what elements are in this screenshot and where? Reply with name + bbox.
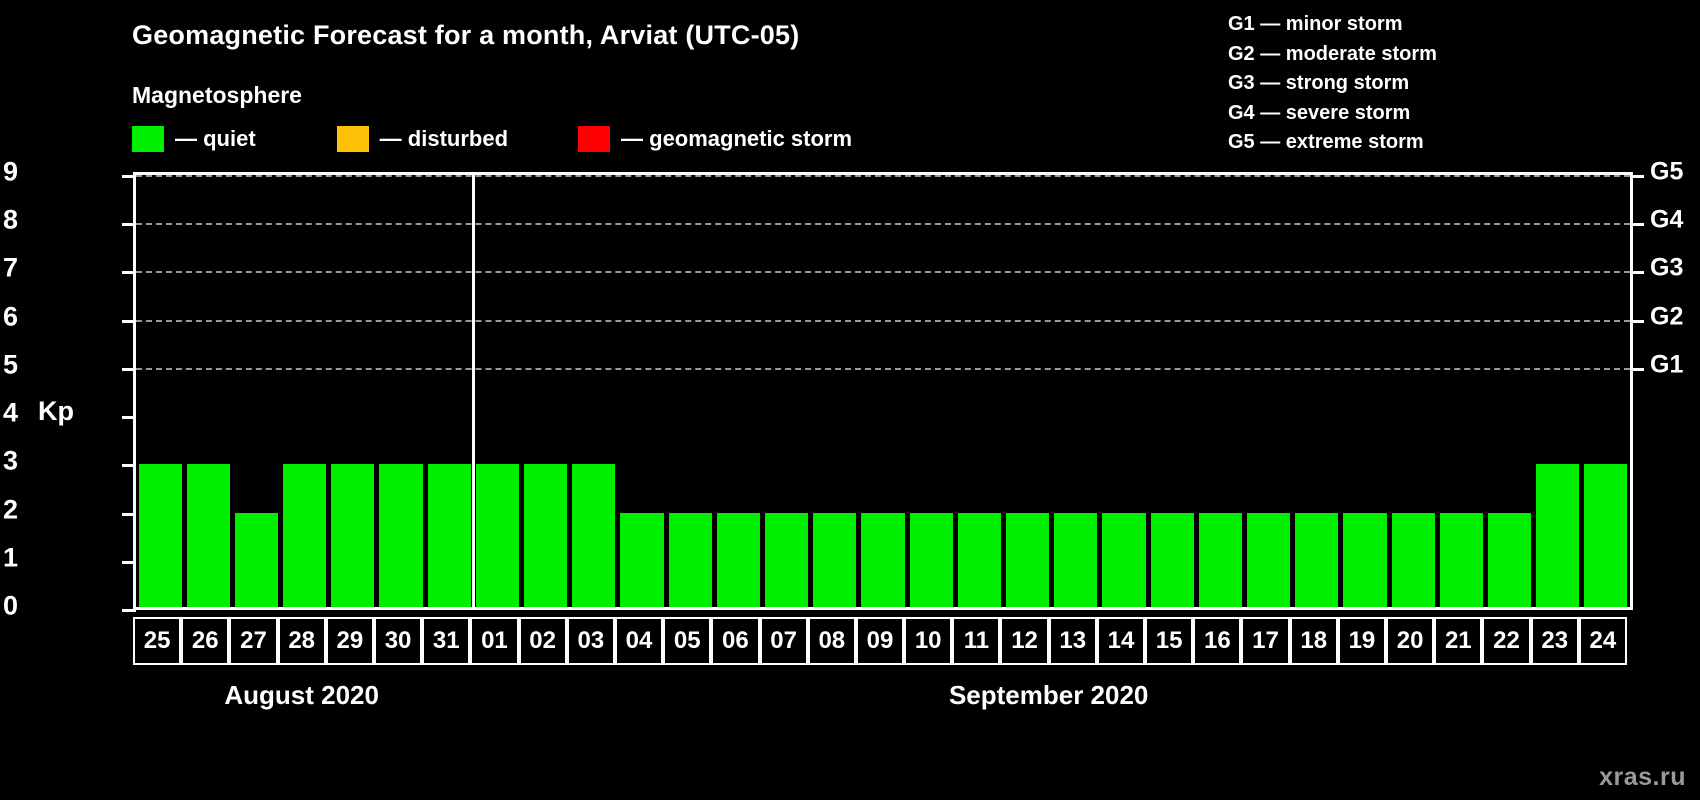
y-tick-label-7: 7	[0, 253, 18, 284]
date-label[interactable]: 08	[808, 617, 856, 665]
legend-label-storm: — geomagnetic storm	[621, 126, 852, 152]
g-axis-label-g4: G4	[1650, 206, 1683, 235]
date-label[interactable]: 13	[1049, 617, 1097, 665]
date-label[interactable]: 17	[1241, 617, 1289, 665]
date-label[interactable]: 29	[326, 617, 374, 665]
y-tick-label-1: 1	[0, 542, 18, 573]
date-label[interactable]: 10	[904, 617, 952, 665]
bar[interactable]	[572, 464, 615, 609]
date-axis: 2526272829303101020304050607080910111213…	[133, 617, 1633, 665]
bar[interactable]	[331, 464, 374, 609]
y-tick-1	[122, 561, 136, 564]
month-caption: September 2020	[949, 680, 1148, 711]
g-axis-label-g5: G5	[1650, 158, 1683, 187]
legend-swatch-storm	[578, 126, 610, 152]
month-caption: August 2020	[224, 680, 379, 711]
bar[interactable]	[524, 464, 567, 609]
date-label[interactable]: 02	[519, 617, 567, 665]
legend-item-quiet: — quiet	[132, 126, 256, 152]
y-tick-7	[122, 271, 136, 274]
watermark: xras.ru	[1599, 763, 1686, 792]
bar[interactable]	[379, 464, 422, 609]
bar[interactable]	[139, 464, 182, 609]
gridline-kp-9	[136, 175, 1630, 177]
g-axis-label-g2: G2	[1650, 302, 1683, 331]
date-label[interactable]: 23	[1531, 617, 1579, 665]
gridline-kp-7	[136, 271, 1630, 273]
bar[interactable]	[717, 513, 760, 609]
bar[interactable]	[1343, 513, 1386, 609]
plot-area	[133, 172, 1633, 609]
bar[interactable]	[669, 513, 712, 609]
date-label[interactable]: 11	[952, 617, 1000, 665]
y-tick-8	[122, 223, 136, 226]
y-tick-2	[122, 513, 136, 516]
date-label[interactable]: 27	[229, 617, 277, 665]
g-tick-g5	[1630, 175, 1644, 178]
bar[interactable]	[620, 513, 663, 609]
g-tick-g1	[1630, 368, 1644, 371]
y-tick-label-9: 9	[0, 157, 18, 188]
date-label[interactable]: 31	[422, 617, 470, 665]
bar[interactable]	[910, 513, 953, 609]
date-label[interactable]: 22	[1482, 617, 1530, 665]
bar[interactable]	[428, 464, 471, 609]
gridline-kp-6	[136, 320, 1630, 322]
storm-scale-row-g3: G3 — strong storm	[1228, 69, 1437, 99]
g-tick-g4	[1630, 223, 1644, 226]
date-label[interactable]: 04	[615, 617, 663, 665]
bar[interactable]	[1199, 513, 1242, 609]
date-label[interactable]: 30	[374, 617, 422, 665]
bar[interactable]	[861, 513, 904, 609]
date-label[interactable]: 20	[1386, 617, 1434, 665]
y-tick-label-2: 2	[0, 494, 18, 525]
gridline-kp-5	[136, 368, 1630, 370]
date-label[interactable]: 06	[711, 617, 759, 665]
bar[interactable]	[187, 464, 230, 609]
legend-item-storm: — geomagnetic storm	[578, 126, 852, 152]
date-label[interactable]: 25	[133, 617, 181, 665]
bar[interactable]	[1151, 513, 1194, 609]
legend-label-disturbed: — disturbed	[380, 126, 508, 152]
y-tick-6	[122, 320, 136, 323]
bar[interactable]	[1584, 464, 1627, 609]
y-tick-5	[122, 368, 136, 371]
y-tick-label-0: 0	[0, 591, 18, 622]
date-label[interactable]: 03	[567, 617, 615, 665]
bar[interactable]	[958, 513, 1001, 609]
bar[interactable]	[1392, 513, 1435, 609]
y-tick-label-5: 5	[0, 349, 18, 380]
plot-inner	[136, 175, 1630, 609]
bar[interactable]	[1006, 513, 1049, 609]
bar[interactable]	[1102, 513, 1145, 609]
date-label[interactable]: 15	[1145, 617, 1193, 665]
storm-scale-row-g2: G2 — moderate storm	[1228, 40, 1437, 70]
y-tick-label-8: 8	[0, 205, 18, 236]
legend-label-quiet: — quiet	[175, 126, 256, 152]
y-tick-label-6: 6	[0, 301, 18, 332]
bar[interactable]	[765, 513, 808, 609]
g-axis-label-g1: G1	[1650, 350, 1683, 379]
legend-swatch-disturbed	[337, 126, 369, 152]
date-label[interactable]: 18	[1290, 617, 1338, 665]
date-label[interactable]: 28	[278, 617, 326, 665]
bar[interactable]	[1536, 464, 1579, 609]
date-label[interactable]: 19	[1338, 617, 1386, 665]
date-label[interactable]: 05	[663, 617, 711, 665]
date-label[interactable]: 07	[760, 617, 808, 665]
date-label[interactable]: 12	[1000, 617, 1048, 665]
date-label[interactable]: 16	[1193, 617, 1241, 665]
date-label[interactable]: 14	[1097, 617, 1145, 665]
bar[interactable]	[1247, 513, 1290, 609]
bar[interactable]	[813, 513, 856, 609]
gridline-kp-8	[136, 223, 1630, 225]
bar[interactable]	[235, 513, 278, 609]
x-axis-line	[133, 607, 1633, 610]
bar[interactable]	[1054, 513, 1097, 609]
storm-scale-legend: G1 — minor stormG2 — moderate stormG3 — …	[1228, 10, 1437, 158]
y-tick-9	[122, 175, 136, 178]
date-label[interactable]: 24	[1579, 617, 1627, 665]
legend-item-disturbed: — disturbed	[337, 126, 508, 152]
storm-scale-row-g4: G4 — severe storm	[1228, 99, 1437, 129]
g-tick-g2	[1630, 320, 1644, 323]
legend: — quiet— disturbed— geomagnetic storm	[132, 126, 852, 152]
g-tick-g3	[1630, 271, 1644, 274]
date-label[interactable]: 21	[1434, 617, 1482, 665]
bar[interactable]	[1295, 513, 1338, 609]
y-tick-label-4: 4	[0, 398, 18, 429]
date-label[interactable]: 09	[856, 617, 904, 665]
g-axis-label-g3: G3	[1650, 254, 1683, 283]
magnetosphere-label: Magnetosphere	[132, 82, 302, 109]
bar[interactable]	[283, 464, 326, 609]
date-label[interactable]: 01	[470, 617, 518, 665]
chart-title: Geomagnetic Forecast for a month, Arviat…	[132, 20, 799, 51]
storm-scale-row-g1: G1 — minor storm	[1228, 10, 1437, 40]
y-tick-4	[122, 416, 136, 419]
storm-scale-row-g5: G5 — extreme storm	[1228, 128, 1437, 158]
month-divider	[472, 175, 475, 609]
date-label[interactable]: 26	[181, 617, 229, 665]
bar[interactable]	[476, 464, 519, 609]
legend-swatch-quiet	[132, 126, 164, 152]
bar[interactable]	[1488, 513, 1531, 609]
y-tick-label-3: 3	[0, 446, 18, 477]
y-tick-3	[122, 464, 136, 467]
bar[interactable]	[1440, 513, 1483, 609]
y-axis-title: Kp	[38, 396, 74, 427]
